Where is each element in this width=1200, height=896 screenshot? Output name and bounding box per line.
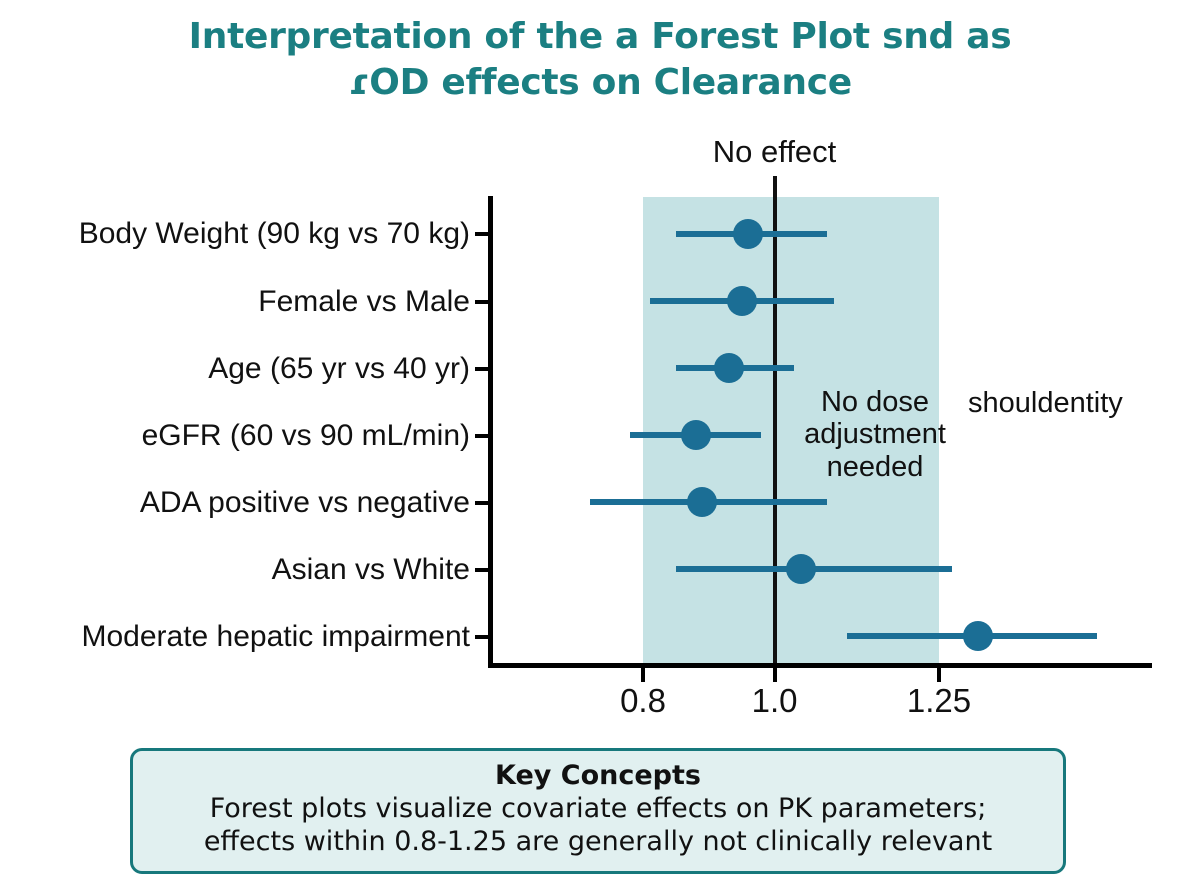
y-tick-4 <box>475 501 490 505</box>
y-tick-3 <box>475 434 490 438</box>
data-point-ada <box>687 487 717 517</box>
y-tick-0 <box>475 232 490 236</box>
y-axis-label-female-vs-male: Female vs Male <box>0 287 470 317</box>
no-dose-line-1: No dose <box>821 386 929 418</box>
y-axis-label-hepatic: Moderate hepatic impairment <box>0 622 470 652</box>
data-point-female-vs-male <box>727 286 757 316</box>
y-tick-6 <box>475 635 490 639</box>
x-tick-2 <box>937 666 941 682</box>
no-dose-adjustment-annotation: No dose adjustment needed <box>790 386 960 483</box>
x-axis-label-1: 1.0 <box>695 682 855 720</box>
x-tick-1 <box>773 666 777 682</box>
y-tick-5 <box>475 568 490 572</box>
y-axis-label-body-weight: Body Weight (90 kg vs 70 kg) <box>0 219 470 249</box>
key-concepts-line-2: effects within 0.8-1.25 are generally no… <box>147 826 1049 859</box>
no-effect-label: No effect <box>625 134 925 170</box>
y-axis-label-ada: ADA positive vs negative <box>0 488 470 518</box>
key-concepts-line-1: Forest plots visualize covariate effects… <box>147 793 1049 826</box>
key-concepts-body: Forest plots visualize covariate effects… <box>147 793 1049 859</box>
y-axis-label-asian-vs-white: Asian vs White <box>0 555 470 585</box>
y-axis-spine <box>488 196 493 668</box>
data-point-hepatic <box>963 621 993 651</box>
y-axis-label-egfr: eGFR (60 vs 90 mL/min) <box>0 421 470 451</box>
key-concepts-title: Key Concepts <box>147 759 1049 793</box>
no-dose-line-2: adjustment <box>804 418 946 450</box>
y-tick-1 <box>475 300 490 304</box>
no-dose-line-3: needed <box>827 451 924 483</box>
x-tick-0 <box>641 666 645 682</box>
data-point-asian-vs-white <box>786 554 816 584</box>
side-annotation: shouldentity <box>968 387 1123 420</box>
key-concepts-callout: Key Concepts Forest plots visualize cova… <box>130 748 1066 874</box>
y-axis-label-age: Age (65 yr vs 40 yr) <box>0 354 470 384</box>
x-axis-label-2: 1.25 <box>859 682 1019 720</box>
no-effect-reference-line <box>773 176 777 665</box>
forest-plot: No effect Body Weight (90 kg vs 70 kg) F… <box>0 0 1200 740</box>
data-point-egfr <box>681 420 711 450</box>
y-tick-2 <box>475 367 490 371</box>
data-point-age <box>714 353 744 383</box>
x-axis-spine <box>488 663 1152 668</box>
